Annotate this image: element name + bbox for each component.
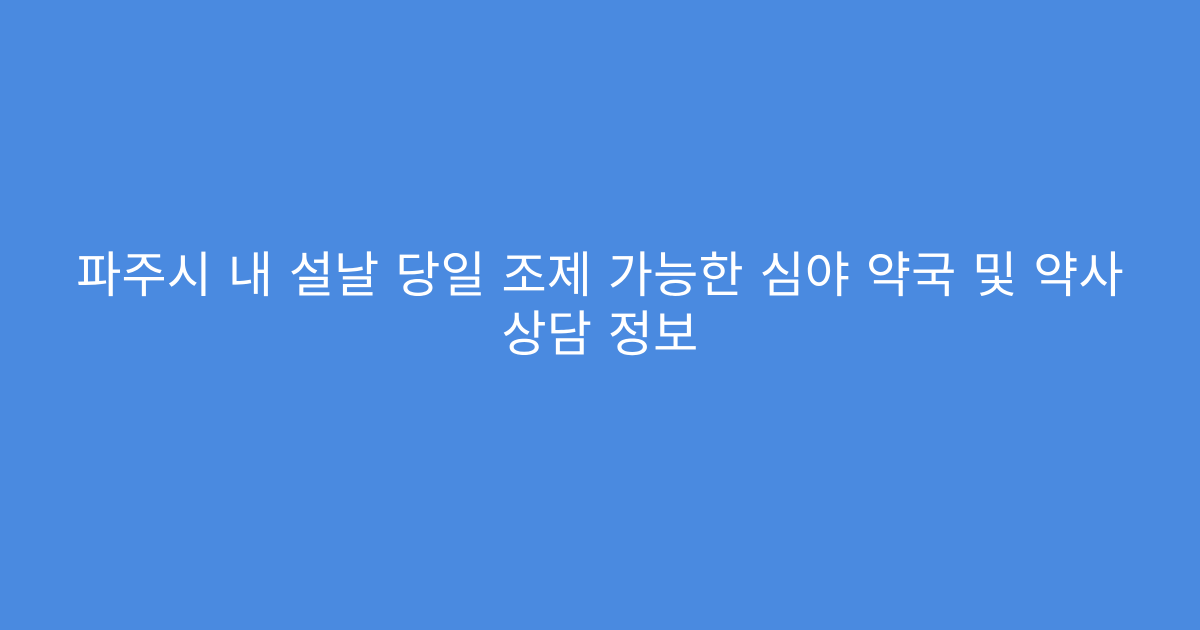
- title-block: 파주시 내 설날 당일 조제 가능한 심야 약국 및 약사 상담 정보: [0, 246, 1200, 364]
- page-title: 파주시 내 설날 당일 조제 가능한 심야 약국 및 약사 상담 정보: [58, 246, 1142, 364]
- og-image-card: 파주시 내 설날 당일 조제 가능한 심야 약국 및 약사 상담 정보: [0, 0, 1200, 630]
